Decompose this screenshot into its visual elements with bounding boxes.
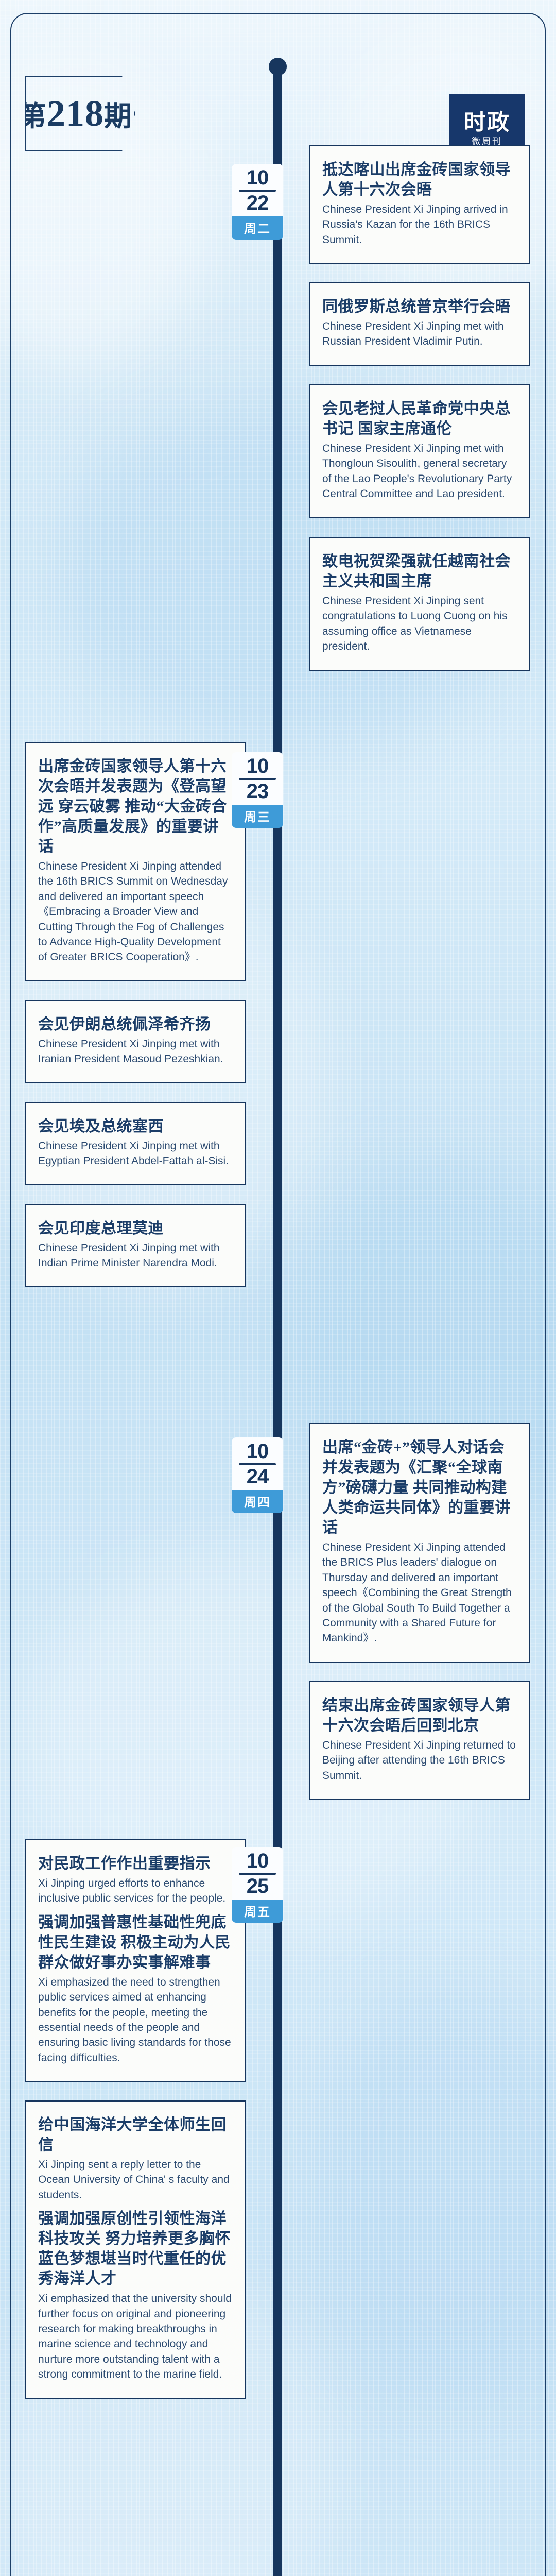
- date-day: 24: [237, 1466, 278, 1487]
- event-card: 会见伊朗总统佩泽希齐扬Chinese President Xi Jinping …: [25, 1000, 246, 1083]
- event-card: 会见老挝人民革命党中央总书记 国家主席通伦Chinese President X…: [309, 384, 530, 518]
- event-title-cn: 会见伊朗总统佩泽希齐扬: [38, 1014, 233, 1035]
- event-card: 抵达喀山出席金砖国家领导人第十六次会晤Chinese President Xi …: [309, 145, 530, 264]
- event-body-en: Chinese President Xi Jinping attended th…: [322, 1540, 517, 1646]
- date-weekday: 周二: [232, 216, 283, 240]
- event-body-en: Chinese President Xi Jinping met with Ru…: [322, 319, 517, 349]
- event-title-cn: 会见老挝人民革命党中央总书记 国家主席通伦: [322, 399, 517, 439]
- date-chip-10-25: 1025周五: [232, 1847, 283, 1923]
- event-card: 同俄罗斯总统普京举行会晤Chinese President Xi Jinping…: [309, 282, 530, 366]
- event-body-en: Chinese President Xi Jinping returned to…: [322, 1738, 517, 1783]
- poster-root: 第218期 时政 微周刊 THIS WEEK 1022周二抵达喀山出席金砖国家领…: [0, 0, 556, 2576]
- event-title-cn: 出席金砖国家领导人第十六次会晤并发表题为《登高望远 穿云破雾 推动“大金砖合作”…: [38, 756, 233, 857]
- date-month: 10: [237, 756, 278, 777]
- event-body-en: Chinese President Xi Jinping met with Th…: [322, 441, 517, 502]
- issue-badge: 第218期: [25, 76, 135, 151]
- date-numbers: 1022: [232, 164, 283, 216]
- date-chip-10-22: 1022周二: [232, 164, 283, 240]
- date-weekday: 周三: [232, 805, 283, 828]
- date-month: 10: [237, 1441, 278, 1462]
- event-title-cn: 会见印度总理莫迪: [38, 1218, 233, 1239]
- issue-number: 218: [47, 93, 104, 134]
- event-card: 致电祝贺梁强就任越南社会主义共和国主席Chinese President Xi …: [309, 537, 530, 671]
- event-title-cn: 同俄罗斯总统普京举行会晤: [322, 297, 517, 317]
- event-body-en-secondary: Xi emphasized that the university should…: [38, 2291, 233, 2382]
- event-card: 对民政工作作出重要指示Xi Jinping urged efforts to e…: [25, 1839, 246, 2082]
- event-body-en: Xi Jinping sent a reply letter to the Oc…: [38, 2157, 233, 2202]
- event-title-cn: 会见埃及总统塞西: [38, 1116, 233, 1137]
- event-title-cn-secondary: 强调加强普惠性基础性兜底性民生建设 积极主动为人民群众做好事办实事解难事: [38, 1912, 233, 1973]
- date-day: 22: [237, 193, 278, 214]
- event-title-cn: 结束出席金砖国家领导人第十六次会晤后回到北京: [322, 1696, 517, 1736]
- event-body-en: Chinese President Xi Jinping attended th…: [38, 859, 233, 965]
- event-body-en: Chinese President Xi Jinping met with Ir…: [38, 1037, 233, 1067]
- event-card: 出席金砖国家领导人第十六次会晤并发表题为《登高望远 穿云破雾 推动“大金砖合作”…: [25, 742, 246, 981]
- event-title-cn: 致电祝贺梁强就任越南社会主义共和国主席: [322, 551, 517, 591]
- date-day: 23: [237, 781, 278, 802]
- event-body-en-secondary: Xi emphasized the need to strengthen pub…: [38, 1975, 233, 2065]
- date-numbers: 1025: [232, 1847, 283, 1900]
- masthead-subtitle-cn: 微周刊: [472, 137, 502, 146]
- event-card: 会见印度总理莫迪Chinese President Xi Jinping met…: [25, 1204, 246, 1287]
- event-body-en: Chinese President Xi Jinping met with Eg…: [38, 1139, 233, 1169]
- event-card: 给中国海洋大学全体师生回信Xi Jinping sent a reply let…: [25, 2100, 246, 2399]
- masthead-title-cn: 时政: [464, 112, 510, 134]
- event-body-en: Chinese President Xi Jinping arrived in …: [322, 202, 517, 247]
- date-day: 25: [237, 1876, 278, 1897]
- event-title-cn: 给中国海洋大学全体师生回信: [38, 2115, 233, 2155]
- event-title-cn: 出席“金砖+”领导人对话会并发表题为《汇聚“全球南方”磅礴力量 共同推动构建人类…: [322, 1437, 517, 1538]
- event-card: 结束出席金砖国家领导人第十六次会晤后回到北京Chinese President …: [309, 1681, 530, 1800]
- timeline-spine: [273, 61, 282, 2576]
- issue-prefix: 第: [19, 101, 47, 132]
- date-chip-10-24: 1024周四: [232, 1437, 283, 1513]
- event-card: 会见埃及总统塞西Chinese President Xi Jinping met…: [25, 1102, 246, 1185]
- date-month: 10: [237, 1851, 278, 1872]
- date-numbers: 1023: [232, 752, 283, 805]
- event-body-en: Chinese President Xi Jinping met with In…: [38, 1241, 233, 1271]
- date-numbers: 1024: [232, 1437, 283, 1490]
- date-month: 10: [237, 167, 278, 189]
- date-weekday: 周四: [232, 1490, 283, 1513]
- event-title-cn-secondary: 强调加强原创性引领性海洋科技攻关 努力培养更多胸怀蓝色梦想堪当时代重任的优秀海洋…: [38, 2209, 233, 2289]
- event-title-cn: 对民政工作作出重要指示: [38, 1854, 233, 1874]
- background-blob: [309, 1984, 556, 2396]
- date-chip-10-23: 1023周三: [232, 752, 283, 828]
- issue-suffix: 期: [104, 101, 132, 132]
- event-title-cn: 抵达喀山出席金砖国家领导人第十六次会晤: [322, 160, 517, 200]
- date-weekday: 周五: [232, 1900, 283, 1923]
- event-card: 出席“金砖+”领导人对话会并发表题为《汇聚“全球南方”磅礴力量 共同推动构建人类…: [309, 1423, 530, 1663]
- event-body-en: Chinese President Xi Jinping sent congra…: [322, 594, 517, 654]
- event-body-en: Xi Jinping urged efforts to enhance incl…: [38, 1876, 233, 1906]
